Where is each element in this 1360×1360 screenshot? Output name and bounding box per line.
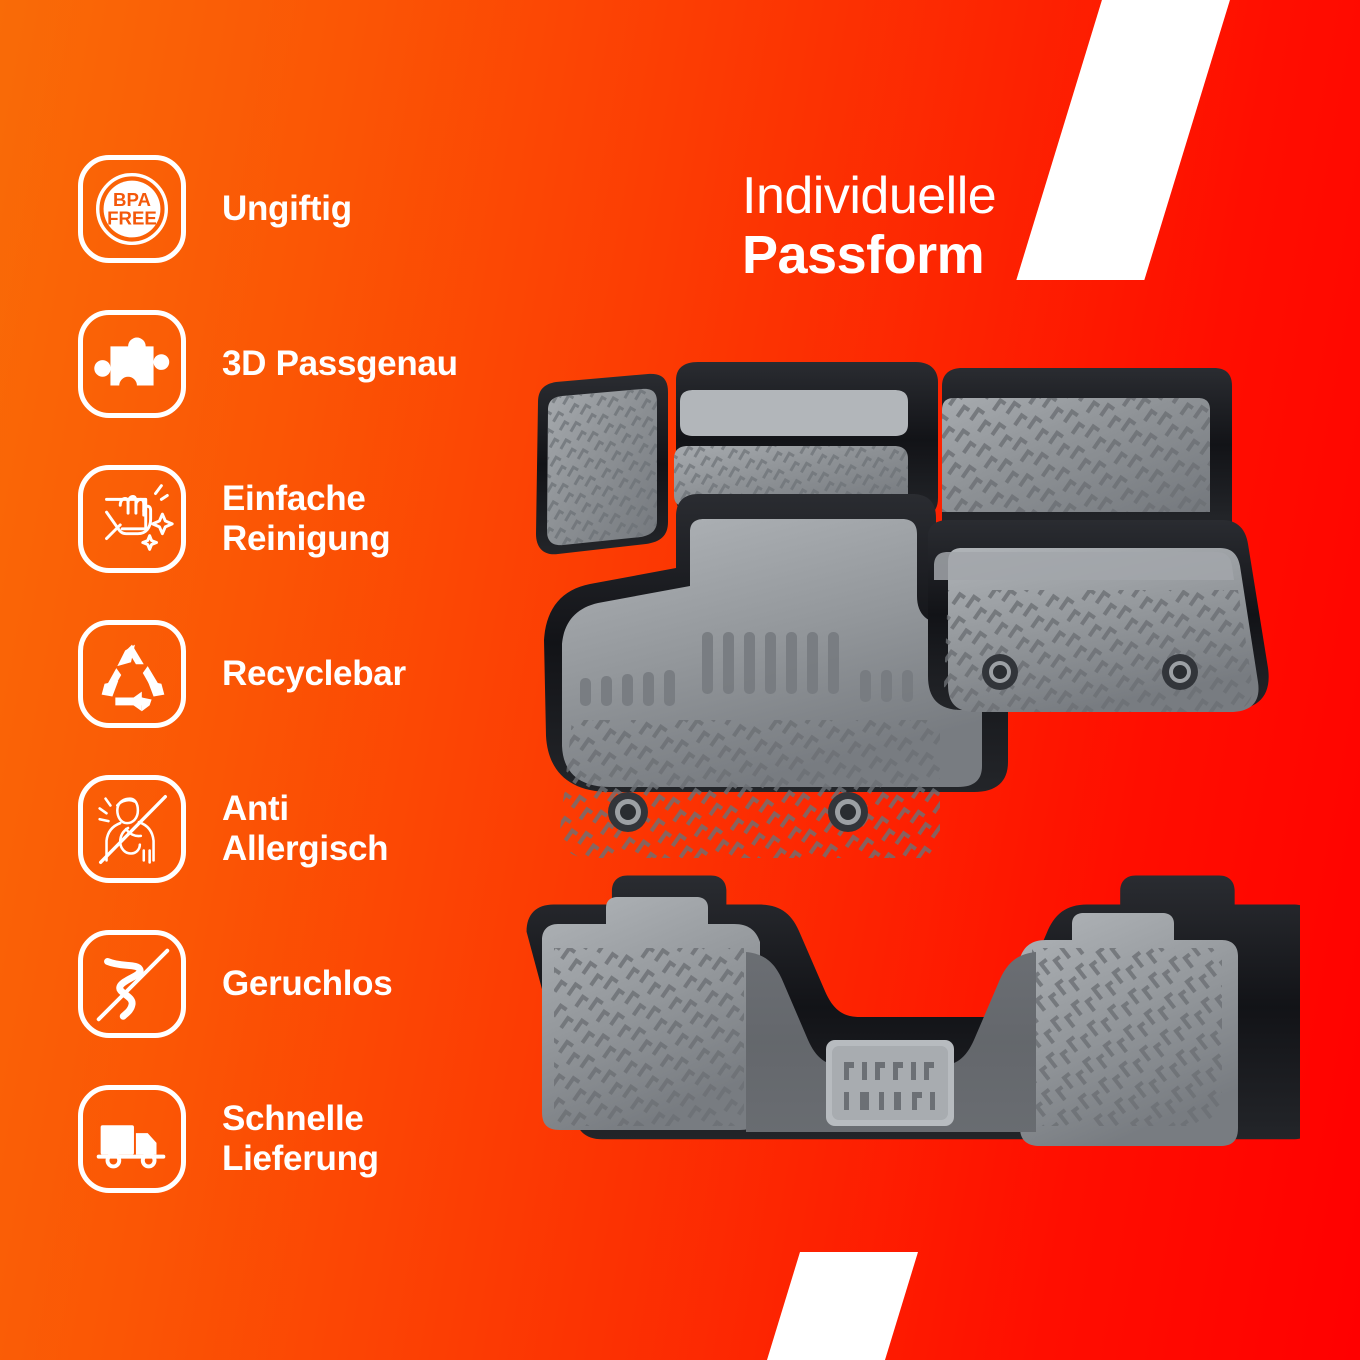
feature-item-recyclebar: Recyclebar <box>78 615 548 733</box>
feature-item-einfache-reinigung: Einfache Reinigung <box>78 460 548 578</box>
headline: Individuelle Passform <box>742 170 996 282</box>
recycle-icon <box>78 620 186 728</box>
svg-text:FREE: FREE <box>107 208 157 229</box>
headline-line-2: Passform <box>742 228 996 282</box>
feature-label: Anti Allergisch <box>222 789 388 868</box>
decorative-slash-bottom <box>763 1252 918 1360</box>
feature-label: Schnelle Lieferung <box>222 1099 379 1178</box>
passenger-front-mat <box>928 368 1269 712</box>
decorative-slash-top <box>1016 0 1233 280</box>
feature-label: Recyclebar <box>222 654 406 694</box>
delivery-truck-icon <box>78 1085 186 1193</box>
rear-bench-mat <box>527 875 1300 1146</box>
headline-line-1: Individuelle <box>742 170 996 222</box>
no-sneezing-icon <box>78 775 186 883</box>
feature-list: BPA FREE Ungiftig 3D Passgenau <box>78 150 548 1198</box>
infographic-canvas: Individuelle Passform BPA FREE Ungiftig <box>0 0 1360 1360</box>
feature-item-3d-passgenau: 3D Passgenau <box>78 305 548 423</box>
wiping-hand-icon <box>78 465 186 573</box>
feature-item-geruchlos: Geruchlos <box>78 925 548 1043</box>
feature-label: Ungiftig <box>222 189 352 229</box>
feature-item-schnelle-lieferung: Schnelle Lieferung <box>78 1080 548 1198</box>
car-floor-mat-set <box>480 340 1300 1170</box>
no-odour-icon <box>78 930 186 1038</box>
puzzle-piece-icon <box>78 310 186 418</box>
bpa-free-icon: BPA FREE <box>78 155 186 263</box>
feature-label: Geruchlos <box>222 964 392 1004</box>
feature-item-ungiftig: BPA FREE Ungiftig <box>78 150 548 268</box>
feature-label: 3D Passgenau <box>222 344 458 384</box>
feature-label: Einfache Reinigung <box>222 479 390 558</box>
feature-item-anti-allergisch: Anti Allergisch <box>78 770 548 888</box>
